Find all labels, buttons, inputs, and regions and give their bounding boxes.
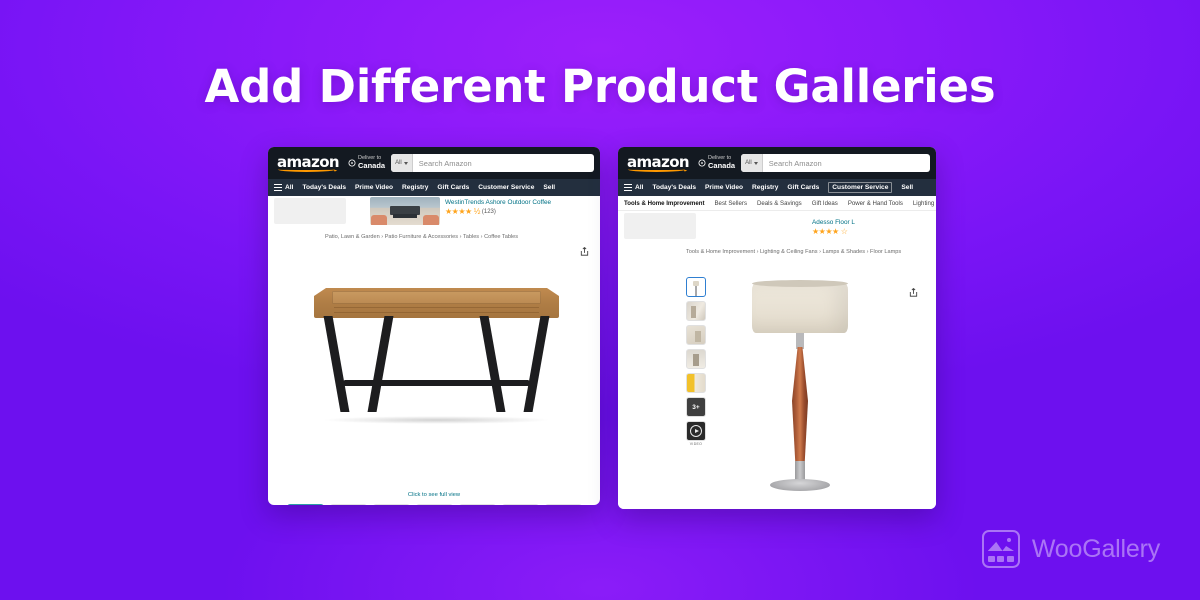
promo-product-title[interactable]: Adesso Floor L <box>812 219 855 226</box>
table-plank-line <box>334 312 539 313</box>
subnav-item-lighting-ceiling[interactable]: Lighting & Ceili <box>913 200 936 207</box>
search-input[interactable]: Search Amazon <box>763 159 930 168</box>
nav-item-todays-deals[interactable]: Today's Deals <box>652 184 696 191</box>
deliver-country: Canada <box>708 162 735 170</box>
rating-empty-star: ☆ <box>841 228 848 236</box>
thumbnail-outdoor-patio-scene[interactable] <box>330 504 367 505</box>
sun-dot <box>1007 538 1011 542</box>
breadcrumb[interactable]: Patio, Lawn & Garden › Patio Furniture &… <box>268 226 600 240</box>
nav-menu-button[interactable]: All <box>274 183 293 192</box>
promo-product-meta: WestinTrends Ashore Outdoor Coffee ★★★★ … <box>445 197 551 216</box>
hamburger-icon <box>624 183 632 192</box>
video-thumbnail-label: VIDEO <box>686 442 706 446</box>
nav-item-registry[interactable]: Registry <box>752 184 778 191</box>
thumbnail-lamp-room-scene-2[interactable] <box>686 325 706 345</box>
nav-item-customer-service[interactable]: Customer Service <box>478 184 534 191</box>
amazon-nav-left: All Today's Deals Prime Video Registry G… <box>268 179 600 196</box>
location-pin-icon <box>698 159 706 167</box>
nav-item-sell[interactable]: Sell <box>543 184 555 191</box>
page-title: Add Different Product Galleries <box>0 58 1200 116</box>
subnav-item-deals-savings[interactable]: Deals & Savings <box>757 200 802 207</box>
search-category-select[interactable]: All <box>741 154 763 172</box>
amazon-smile-icon <box>628 167 685 172</box>
table-leg <box>524 316 550 412</box>
subnav-item-best-sellers[interactable]: Best Sellers <box>714 200 747 207</box>
table-stretcher <box>344 380 529 386</box>
hamburger-icon <box>274 183 282 192</box>
search-bar[interactable]: All Search Amazon <box>741 154 930 172</box>
promo-placeholder-tile <box>624 213 696 239</box>
promo-product-card[interactable]: Adesso Floor L ★★★★ ☆ <box>812 217 855 236</box>
chevron-down-icon <box>404 162 408 165</box>
thumbnail-lamp-packaging[interactable] <box>686 373 706 393</box>
amazon-logo[interactable]: amazon <box>274 155 342 172</box>
thumbnail-strip-left: 1+ SIZE <box>268 498 600 505</box>
thumbnail-lamp-room-scene-1[interactable] <box>686 301 706 321</box>
rating-stars: ★★★★ <box>812 228 839 236</box>
more-images-count: 3+ <box>692 404 699 411</box>
nav-item-gift-cards[interactable]: Gift Cards <box>787 184 819 191</box>
nav-item-gift-cards[interactable]: Gift Cards <box>437 184 469 191</box>
nav-item-todays-deals[interactable]: Today's Deals <box>302 184 346 191</box>
lamp-thumb-art <box>693 281 699 286</box>
nav-item-prime-video[interactable]: Prime Video <box>355 184 393 191</box>
search-bar[interactable]: All Search Amazon <box>391 154 594 172</box>
amazon-header-left: amazon Deliver to Canada All Search Amaz… <box>268 147 600 179</box>
search-category-select[interactable]: All <box>391 154 413 172</box>
thumbnail-dimensions-chart[interactable]: SIZE <box>545 504 582 505</box>
search-category-value: All <box>395 160 402 166</box>
promo-carousel-left: WestinTrends Ashore Outdoor Coffee ★★★★ … <box>268 196 600 226</box>
lamp-neck <box>796 333 804 349</box>
thumbnail-table-studio-shot[interactable] <box>459 504 496 505</box>
table-inlay <box>332 291 541 304</box>
nav-menu-label: All <box>635 184 643 191</box>
rating-half-star: ½ <box>474 208 480 216</box>
subnav-item-tools-home-improvement[interactable]: Tools & Home Improvement <box>624 200 704 207</box>
lamp-base <box>770 479 830 491</box>
amazon-logo[interactable]: amazon <box>624 155 692 172</box>
deliver-to-selector[interactable]: Deliver to Canada <box>698 156 735 170</box>
woogallery-brand-text: WooGallery <box>1032 535 1160 564</box>
subnav-item-power-hand-tools[interactable]: Power & Hand Tools <box>848 200 903 207</box>
thumbnail-reviewer-portrait[interactable] <box>373 504 410 505</box>
table-top <box>314 288 559 318</box>
search-category-value: All <box>745 160 752 166</box>
play-icon <box>690 425 702 437</box>
lamp-pole <box>792 347 808 467</box>
floor-lamp-image[interactable] <box>740 283 860 493</box>
promo-product-image <box>370 197 440 225</box>
woogallery-watermark: WooGallery <box>982 530 1160 568</box>
table-shadow <box>322 416 551 424</box>
promo-product-title[interactable]: WestinTrends Ashore Outdoor Coffee <box>445 199 551 206</box>
amazon-subnav-right: Tools & Home Improvement Best Sellers De… <box>618 196 936 211</box>
patio-table <box>390 206 420 215</box>
thumbnail-lamp-room-scene-3[interactable] <box>686 349 706 369</box>
breadcrumb[interactable]: Tools & Home Improvement › Lighting & Ce… <box>618 241 936 255</box>
amazon-nav-right: All Today's Deals Prime Video Registry G… <box>618 179 936 196</box>
promo-product-meta: Adesso Floor L ★★★★ ☆ <box>812 217 855 236</box>
thumbnail-product-video[interactable] <box>686 421 706 441</box>
amazon-header-right: amazon Deliver to Canada All Search Amaz… <box>618 147 936 179</box>
rating-row: ★★★★ ½ (123) <box>445 208 551 216</box>
table-leg <box>324 316 350 412</box>
rating-row: ★★★★ ☆ <box>812 228 855 236</box>
review-count: (123) <box>482 209 496 215</box>
thumbnail-coffee-table-front[interactable] <box>287 504 324 505</box>
search-input[interactable]: Search Amazon <box>413 159 594 168</box>
right-browser-card: amazon Deliver to Canada All Search Amaz… <box>618 147 936 509</box>
promo-placeholder-tile <box>274 198 346 224</box>
coffee-table-image[interactable] <box>314 288 559 428</box>
thumbnail-cells <box>988 556 1014 562</box>
nav-menu-button[interactable]: All <box>624 183 643 192</box>
nav-item-customer-service[interactable]: Customer Service <box>828 182 892 193</box>
rating-stars: ★★★★ <box>445 208 472 216</box>
chevron-down-icon <box>754 162 758 165</box>
left-browser-card: amazon Deliver to Canada All Search Amaz… <box>268 147 600 505</box>
thumbnail-strip-right: 3+ VIDEO <box>686 277 706 446</box>
share-icon[interactable] <box>579 246 590 257</box>
deliver-to-selector[interactable]: Deliver to Canada <box>348 156 385 170</box>
nav-menu-label: All <box>285 184 293 191</box>
product-image-stage-right: 3+ VIDEO <box>618 255 936 509</box>
promo-product-card[interactable]: WestinTrends Ashore Outdoor Coffee ★★★★ … <box>370 197 551 225</box>
table-leg <box>368 316 394 412</box>
thumbnail-table-angle-view[interactable] <box>416 504 453 505</box>
nav-item-prime-video[interactable]: Prime Video <box>705 184 743 191</box>
deliver-country: Canada <box>358 162 385 170</box>
promo-carousel-right: Adesso Floor L ★★★★ ☆ <box>618 211 936 241</box>
thumbnail-more-images-badge[interactable]: 3+ <box>686 397 706 417</box>
patio-chair-right <box>423 215 439 225</box>
thumbnail-more-images-badge[interactable]: 1+ <box>502 504 539 505</box>
lamp-shade <box>752 283 848 333</box>
patio-chair-left <box>371 215 387 225</box>
table-leg <box>480 316 506 412</box>
table-plank-line <box>334 307 539 308</box>
gallery-image-icon <box>982 530 1020 568</box>
subnav-item-gift-ideas[interactable]: Gift Ideas <box>812 200 838 207</box>
nav-item-registry[interactable]: Registry <box>402 184 428 191</box>
share-icon[interactable] <box>908 287 919 298</box>
product-image-stage-left <box>268 240 600 492</box>
nav-item-sell[interactable]: Sell <box>901 184 913 191</box>
amazon-smile-icon <box>278 167 335 172</box>
thumbnail-floor-lamp-front[interactable] <box>686 277 706 297</box>
location-pin-icon <box>348 159 356 167</box>
